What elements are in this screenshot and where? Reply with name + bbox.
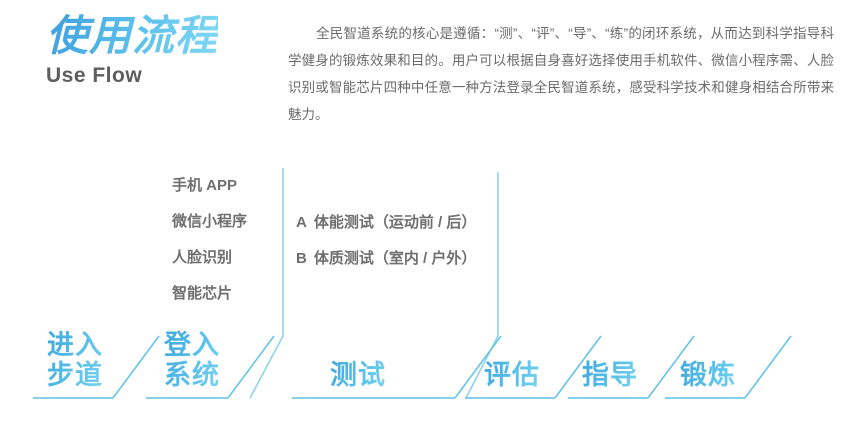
use-flow-infographic: 使用流程 Use Flow 全民智道系统的核心是遵循：“测”、“评”、“导”、“… (0, 0, 851, 442)
step-label: 锻炼 (668, 360, 748, 390)
list-item-index: B (296, 250, 307, 267)
step-item[interactable]: 进入 步道 (35, 318, 115, 418)
step-label: 登入 系统 (152, 330, 232, 390)
list-item: 手机 APP (172, 168, 272, 204)
page-subtitle: Use Flow (46, 64, 142, 88)
step-item[interactable]: 锻炼 (668, 318, 748, 418)
step-bar: 进入 步道 登入 系统 测试 评估 指导 锻炼 (0, 318, 851, 418)
list-item-label: 体能测试（运动前 / 后） (314, 214, 477, 231)
intro-paragraph: 全民智道系统的核心是遵循：“测”、“评”、“导”、“练”的闭环系统，从而达到科学… (288, 20, 834, 128)
step-item[interactable]: 测试 (318, 318, 398, 418)
step-label: 测试 (318, 360, 398, 390)
step-item[interactable]: 评估 (472, 318, 552, 418)
list-item-label: 体质测试（室内 / 户外） (314, 250, 477, 267)
step-label: 评估 (472, 360, 552, 390)
list-item: 微信小程序 (172, 204, 272, 240)
list-item: 人脸识别 (172, 240, 272, 276)
step-item[interactable]: 指导 (570, 318, 650, 418)
page-title: 使用流程 (46, 14, 218, 58)
step-label: 进入 步道 (35, 330, 115, 390)
step-label: 指导 (570, 360, 650, 390)
list-item: 智能芯片 (172, 276, 272, 312)
step-item[interactable]: 登入 系统 (152, 318, 232, 418)
list-item: B体质测试（室内 / 户外） (296, 241, 496, 277)
list-item-index: A (296, 214, 307, 231)
login-methods-list: 手机 APP 微信小程序 人脸识别 智能芯片 (172, 168, 272, 312)
list-item: A体能测试（运动前 / 后） (296, 205, 496, 241)
test-types-list: A体能测试（运动前 / 后） B体质测试（室内 / 户外） (296, 205, 496, 277)
